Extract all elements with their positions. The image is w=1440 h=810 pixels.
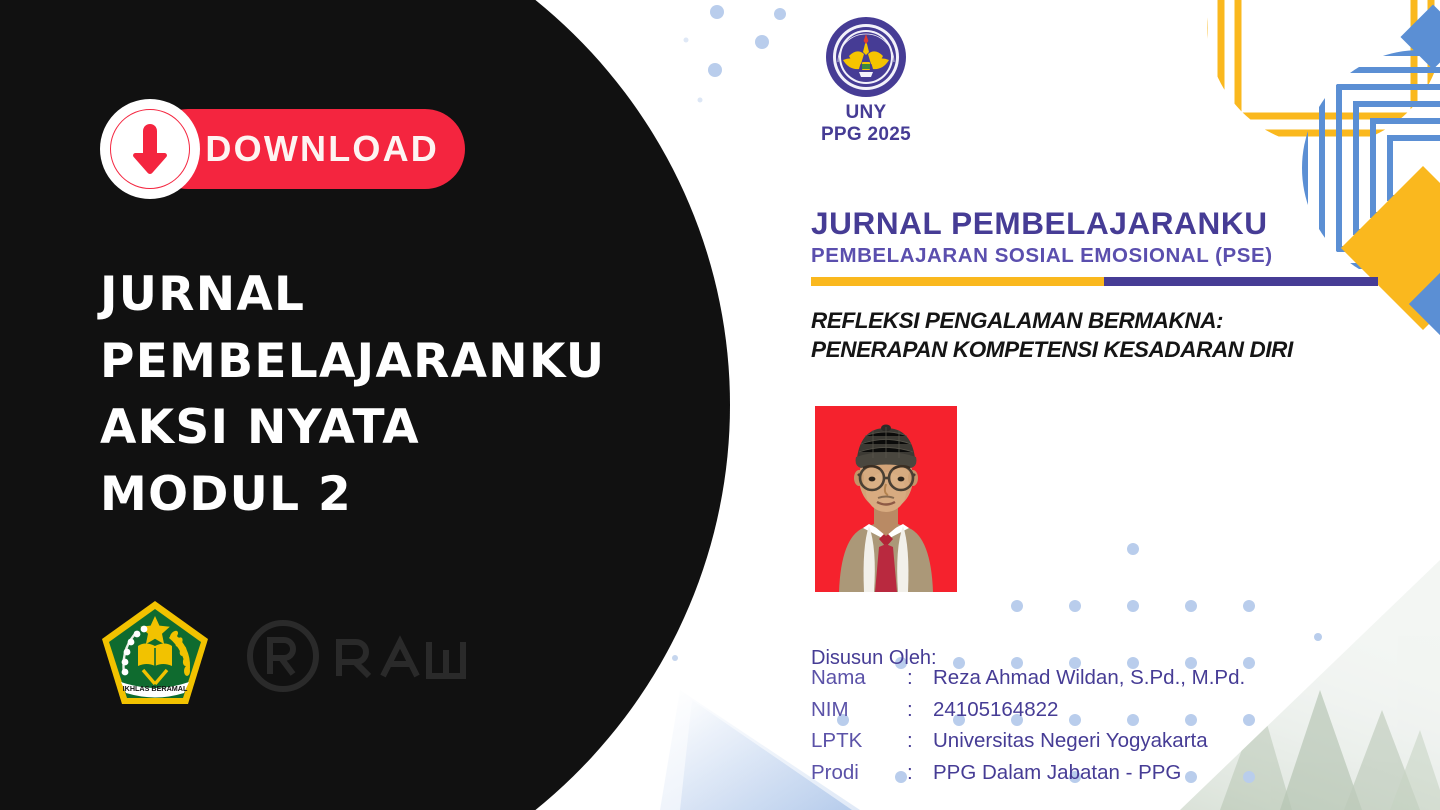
download-icon-ring <box>110 109 190 189</box>
uny-line-1: UNY <box>806 102 926 124</box>
author-sep-nim: : <box>907 694 933 726</box>
blue-diamond-top <box>1400 4 1440 69</box>
author-row-lptk: LPTK : Universitas Negeri Yogyakarta <box>811 725 1245 757</box>
poster-canvas: DOWNLOAD JURNAL PEMBELAJARANKU AKSI NYAT… <box>0 0 1440 810</box>
journal-reflection-heading: REFLEKSI PENGALAMAN BERMAKNA: PENERAPAN … <box>811 306 1293 365</box>
author-details-table: Nama : Reza Ahmad Wildan, S.Pd., M.Pd. N… <box>811 662 1245 788</box>
author-sep-prodi: : <box>907 757 933 789</box>
uny-seal-logo <box>825 16 907 98</box>
dot-stray-left <box>672 655 678 661</box>
author-key-lptk: LPTK <box>811 725 907 757</box>
institution-caption: UNY PPG 2025 <box>806 102 926 145</box>
author-key-nim: NIM <box>811 694 907 726</box>
divider-yellow-segment <box>811 277 1104 286</box>
title-line-1: JURNAL <box>100 262 660 329</box>
title-line-4: MODUL 2 <box>100 462 660 529</box>
journal-subtitle: PEMBELAJARAN SOSIAL EMOSIONAL (PSE) <box>811 244 1273 268</box>
download-icon-circle[interactable] <box>100 99 200 199</box>
institution-block: UNY PPG 2025 <box>806 16 926 145</box>
raw-watermark <box>243 620 523 692</box>
dot-scatter-top <box>684 5 787 103</box>
poster-title: JURNAL PEMBELAJARANKU AKSI NYATA MODUL 2 <box>100 262 660 529</box>
download-button[interactable]: DOWNLOAD <box>100 99 465 199</box>
author-value-nim: 24105164822 <box>933 694 1245 726</box>
title-line-3: AKSI NYATA <box>100 395 660 462</box>
author-sep-lptk: : <box>907 725 933 757</box>
reflection-line-1: REFLEKSI PENGALAMAN BERMAKNA: <box>811 306 1293 335</box>
journal-title: JURNAL PEMBELAJARANKU <box>811 205 1268 242</box>
author-sep-nama: : <box>907 662 933 694</box>
author-row-nama: Nama : Reza Ahmad Wildan, S.Pd., M.Pd. <box>811 662 1245 694</box>
yellow-pattern-circle <box>1136 0 1440 218</box>
divider-purple-segment <box>1104 277 1378 286</box>
author-key-prodi: Prodi <box>811 757 907 789</box>
author-portrait-photo <box>815 406 957 592</box>
dot-stray-author <box>1314 633 1322 641</box>
title-divider-bar <box>811 277 1378 286</box>
title-line-2: PEMBELAJARANKU <box>100 329 660 396</box>
author-value-lptk: Universitas Negeri Yogyakarta <box>933 725 1245 757</box>
author-row-prodi: Prodi : PPG Dalam Jabatan - PPG <box>811 757 1245 789</box>
download-arrow-icon <box>128 122 172 176</box>
reflection-line-2: PENERAPAN KOMPETENSI KESADARAN DIRI <box>811 335 1293 364</box>
author-value-prodi: PPG Dalam Jabatan - PPG <box>933 757 1245 789</box>
download-label: DOWNLOAD <box>205 128 439 170</box>
svg-text:IKHLAS BERAMAL: IKHLAS BERAMAL <box>123 684 188 693</box>
author-row-nim: NIM : 24105164822 <box>811 694 1245 726</box>
author-value-nama: Reza Ahmad Wildan, S.Pd., M.Pd. <box>933 662 1245 694</box>
uny-line-2: PPG 2025 <box>806 124 926 146</box>
kemenag-logo: IKHLAS BERAMAL <box>99 598 211 710</box>
author-key-nama: Nama <box>811 662 907 694</box>
